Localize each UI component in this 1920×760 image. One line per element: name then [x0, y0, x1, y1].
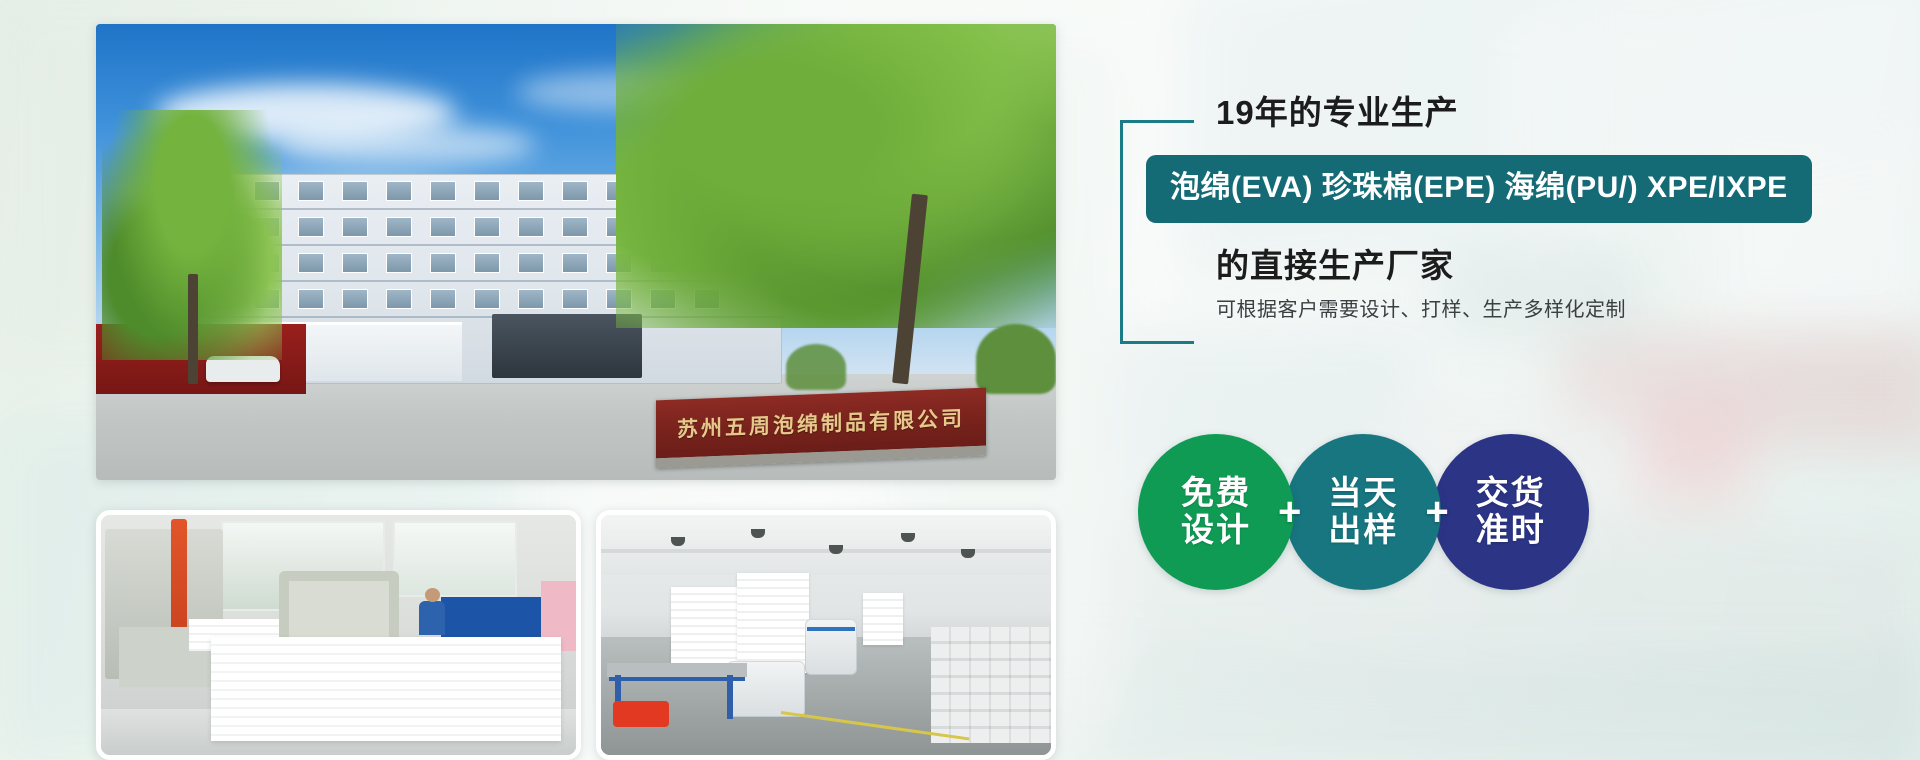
banner-copy: 19年的专业生产 泡绵(EVA) 珍珠棉(EPE) 海绵(PU/) XPE/IX…	[1120, 96, 1880, 320]
tree-large	[616, 24, 1056, 328]
feature-circles: 免费 设计 + 当天 出样 + 交货 准时	[1138, 434, 1589, 590]
feature-line1: 当天	[1328, 475, 1398, 512]
headline: 19年的专业生产	[1216, 96, 1880, 129]
plus-separator-icon: +	[1425, 490, 1448, 535]
bracket-decoration	[1120, 120, 1194, 344]
subheadline: 的直接生产厂家	[1216, 249, 1880, 282]
feature-line2: 设计	[1181, 512, 1251, 549]
foam-warehouse-photo	[596, 510, 1056, 760]
feature-line2: 出样	[1328, 512, 1398, 549]
promo-banner: 苏州五周泡绵制品有限公司	[0, 0, 1920, 760]
factory-building-photo: 苏州五周泡绵制品有限公司	[96, 24, 1056, 480]
foam-cutting-workshop-photo	[96, 510, 581, 760]
plus-separator-icon: +	[1278, 490, 1301, 535]
feature-line1: 交货	[1476, 475, 1546, 512]
feature-line2: 准时	[1476, 512, 1546, 549]
company-sign: 苏州五周泡绵制品有限公司	[656, 388, 986, 469]
feature-circle-on-time-delivery: 交货 准时	[1433, 434, 1589, 590]
product-types-pill: 泡绵(EVA) 珍珠棉(EPE) 海绵(PU/) XPE/IXPE	[1146, 155, 1812, 223]
company-sign-text: 苏州五周泡绵制品有限公司	[677, 402, 965, 443]
feature-line1: 免费	[1181, 475, 1251, 512]
feature-circle-free-design: 免费 设计	[1138, 434, 1294, 590]
service-note: 可根据客户需要设计、打样、生产多样化定制	[1216, 300, 1880, 320]
feature-circle-same-day-sample: 当天 出样	[1285, 434, 1441, 590]
